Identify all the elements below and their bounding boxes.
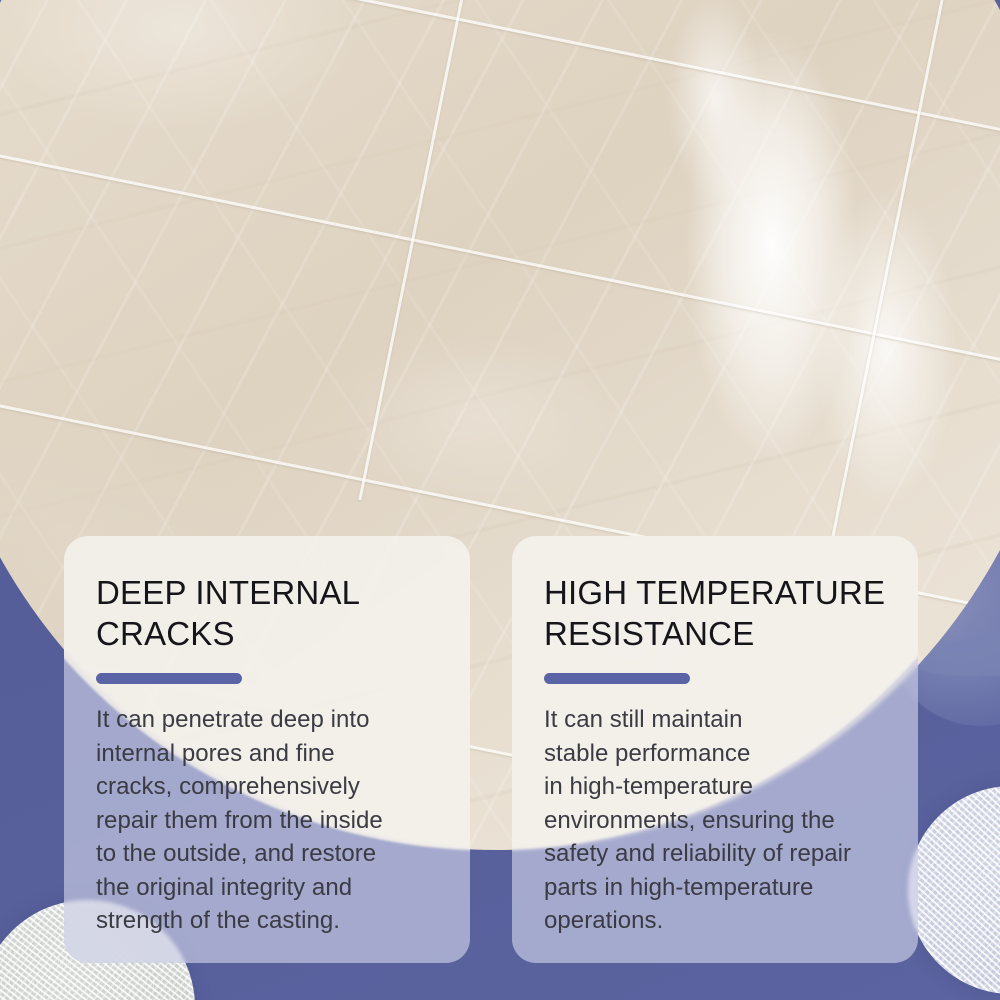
card-body-text: It can still maintain stable performance…	[544, 703, 888, 938]
card-title: DEEP INTERNAL CRACKS	[96, 572, 440, 654]
granule-dish-right	[908, 786, 1000, 994]
feature-poster: DEEP INTERNAL CRACKS It can penetrate de…	[0, 0, 1000, 1000]
feature-card-high-temperature-resistance[interactable]: HIGH TEMPERATURE RESISTANCE It can still…	[512, 536, 918, 963]
dish-rim	[908, 786, 1000, 994]
title-accent-bar	[544, 673, 690, 684]
card-title: HIGH TEMPERATURE RESISTANCE	[544, 572, 888, 654]
feature-card-deep-internal-cracks[interactable]: DEEP INTERNAL CRACKS It can penetrate de…	[64, 536, 470, 963]
title-accent-bar	[96, 673, 242, 684]
card-body-text: It can penetrate deep into internal pore…	[96, 703, 440, 938]
